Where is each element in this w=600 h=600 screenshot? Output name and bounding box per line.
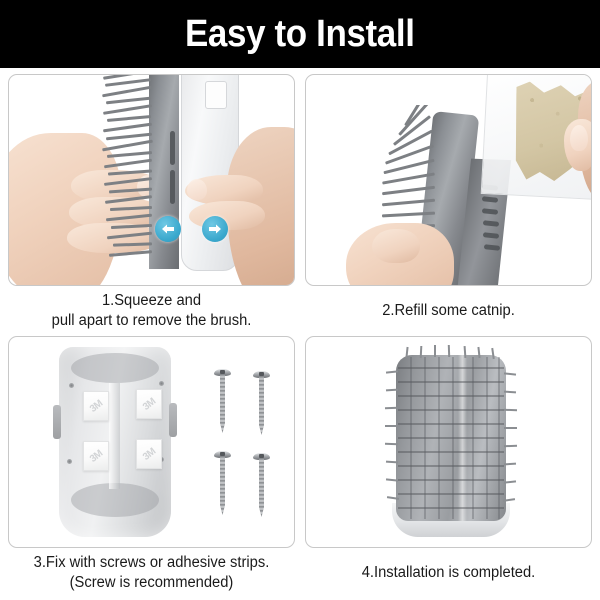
- adhesive-pad-3m: 3M: [136, 389, 162, 419]
- arrow-right-badge: [202, 216, 228, 242]
- bracket-left-tab: [53, 405, 61, 439]
- base-part-highlight: [205, 81, 227, 109]
- screw-slot: [259, 454, 264, 458]
- header-banner: Easy to Install: [0, 0, 600, 68]
- screw: [253, 453, 270, 519]
- screw: [214, 369, 231, 435]
- step-2-photo: [305, 74, 592, 286]
- step-1-caption: 1.Squeeze and pull apart to remove the b…: [15, 286, 288, 334]
- screw-slot: [220, 452, 225, 456]
- steps-grid: 1.Squeeze and pull apart to remove the b…: [0, 68, 600, 600]
- step-4-cell: 4.Installation is completed.: [305, 336, 592, 596]
- step-3-caption-line2: (Screw is recommended): [34, 573, 270, 593]
- screw: [253, 371, 270, 437]
- brush-vent-slot: [170, 131, 175, 165]
- adhesive-pad-3m: 3M: [83, 441, 109, 471]
- arrow-left-badge: [155, 216, 181, 242]
- step-2-cell: 2.Refill some catnip.: [305, 74, 592, 334]
- screw-shaft: [259, 459, 264, 517]
- screw-slot: [259, 372, 264, 376]
- screw-slot: [220, 370, 225, 374]
- step-4-caption-line1: 4.Installation is completed.: [362, 563, 536, 583]
- step-4-photo: [305, 336, 592, 548]
- bracket-screw-hole: [67, 459, 72, 464]
- bracket-screw-hole: [69, 383, 74, 388]
- bracket-top-ridge: [71, 353, 159, 383]
- step-3-cell: 3M 3M 3M 3M: [8, 336, 295, 596]
- brush-bristles: [101, 74, 159, 261]
- pouring-thumbnail: [570, 125, 588, 151]
- bracket-center-spine: [109, 383, 120, 489]
- step-2-caption: 2.Refill some catnip.: [312, 286, 585, 334]
- step-3-caption: 3.Fix with screws or adhesive strips. (S…: [15, 548, 288, 596]
- adhesive-pad-3m: 3M: [83, 391, 109, 421]
- step-1-caption-line2: pull apart to remove the brush.: [52, 311, 252, 331]
- step-4-caption: 4.Installation is completed.: [312, 548, 585, 596]
- screw-shaft: [220, 457, 225, 515]
- adhesive-pad-3m: 3M: [136, 439, 162, 469]
- step-1-photo: [8, 74, 295, 286]
- brush-vent-slot: [170, 170, 175, 204]
- page-title: Easy to Install: [185, 15, 415, 53]
- step-3-photo: 3M 3M 3M 3M: [8, 336, 295, 548]
- screw-shaft: [259, 377, 264, 435]
- step-1-caption-line1: 1.Squeeze and: [52, 291, 252, 311]
- step-1-cell: 1.Squeeze and pull apart to remove the b…: [8, 74, 295, 334]
- bracket-screw-hole: [159, 381, 164, 386]
- right-fingernail: [187, 179, 207, 200]
- screw-shaft: [220, 375, 225, 433]
- step-2-caption-line1: 2.Refill some catnip.: [382, 301, 515, 321]
- step-3-caption-line1: 3.Fix with screws or adhesive strips.: [34, 553, 270, 573]
- screw: [214, 451, 231, 517]
- bracket-right-tab: [169, 403, 177, 437]
- holding-thumb: [372, 229, 420, 263]
